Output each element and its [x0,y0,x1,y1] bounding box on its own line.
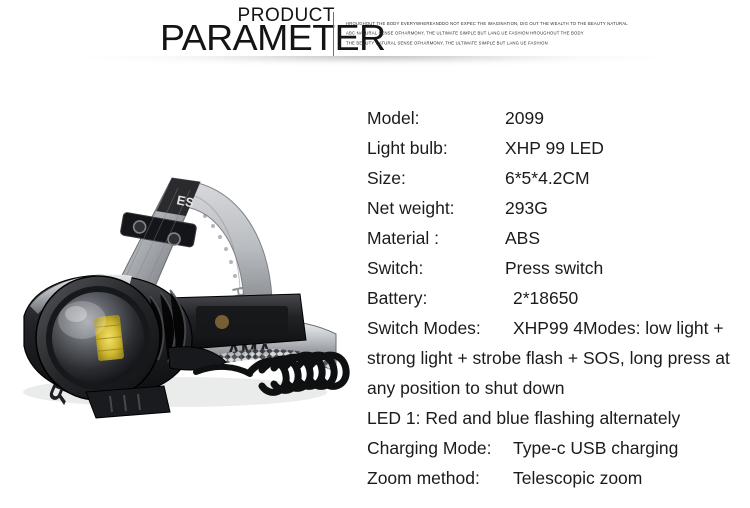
spec-value-line: any position to shut down [367,373,750,403]
page-header: PRODUCT PARAMETER HROUGHOUT THE BODY EVE… [0,0,750,78]
spec-row-material: Material :ABS [367,223,750,253]
spec-row-switch: Switch:Press switch [367,253,750,283]
spec-label: Model: [367,103,505,133]
spec-value: 6*5*4.2CM [505,163,590,193]
spec-value: 2099 [505,103,544,133]
spec-label: Material : [367,223,505,253]
spec-value-line: XHP99 4Modes: low light + [505,313,724,343]
header-blurb-line: THE BEAUTY NATURAL SENSE OFHARMONY, THE … [346,40,719,48]
spec-label: Zoom method: [367,463,505,493]
header-blurb-line: HROUGHOUT THE BODY EVERYWHEREANDDO NOT E… [346,20,719,28]
specification-list: Model:2099 Light bulb:XHP 99 LED Size:6*… [367,103,750,493]
indicator-lamp [215,315,229,329]
spec-label: Switch: [367,253,505,283]
spec-row-charging-mode: Charging Mode:Type-c USB charging [367,433,750,463]
spec-row-led1: LED 1: Red and blue flashing alternately [367,403,750,433]
spec-value: Type-c USB charging [505,433,678,463]
spec-value: 2*18650 [505,283,578,313]
spec-label: Light bulb: [367,133,505,163]
spec-label: Charging Mode: [367,433,505,463]
spec-value: Telescopic zoom [505,463,642,493]
led-headlamp-photo: HE ES AMAJOR AMA [0,120,360,420]
page-title: PRODUCT PARAMETER [160,6,335,58]
spec-row-model: Model:2099 [367,103,750,133]
spec-label: Battery: [367,283,505,313]
lamp-bottom-housing [86,386,170,418]
spec-row-battery: Battery:2*18650 [367,283,750,313]
spec-value: Press switch [505,253,603,283]
spec-row-zoom-method: Zoom method:Telescopic zoom [367,463,750,493]
spec-value: XHP 99 LED [505,133,604,163]
spec-value-line: strong light + strobe flash + SOS, long … [367,343,750,373]
spec-row-light-bulb: Light bulb:XHP 99 LED [367,133,750,163]
header-gradient-shadow [0,56,750,78]
spec-text: LED 1: Red and blue flashing alternately [367,408,680,428]
spec-row-net-weight: Net weight:293G [367,193,750,223]
spec-label: Net weight: [367,193,505,223]
spec-value: ABS [505,223,540,253]
spec-row-switch-modes: Switch Modes:XHP99 4Modes: low light + s… [367,313,750,403]
title-divider [333,12,334,56]
spec-value: 293G [505,193,548,223]
header-blurb-line: ABC NATURAL SENSE OFHARMONY, THE ULTIMAT… [346,30,719,38]
spec-row-size: Size:6*5*4.2CM [367,163,750,193]
header-blurb-text: HROUGHOUT THE BODY EVERYWHEREANDDO NOT E… [346,20,719,50]
spec-label: Size: [367,163,505,193]
coiled-cable [250,355,346,392]
spec-label: Switch Modes: [367,313,505,343]
